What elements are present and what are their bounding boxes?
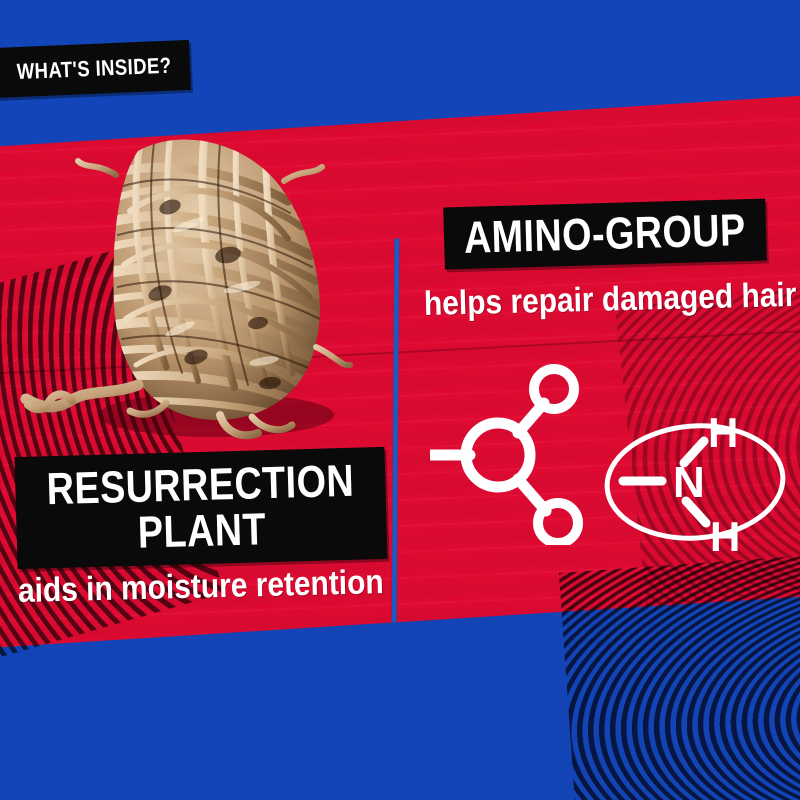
- resurrection-plant-title-line2: PLANT: [137, 506, 266, 555]
- hydrogen-label-top: H: [708, 409, 738, 456]
- whats-inside-label: WHAT'S INSIDE?: [16, 54, 171, 83]
- amino-group-title: AMINO-GROUP: [464, 207, 747, 261]
- ingredient-poster: WHAT'S INSIDE? AMINO-GROUP helps repair …: [0, 0, 800, 800]
- amino-nh2-icon: N H H: [600, 405, 790, 560]
- whats-inside-banner: WHAT'S INSIDE?: [0, 40, 191, 98]
- molecule-icon: [430, 345, 590, 545]
- hydrogen-label-bottom: H: [710, 513, 740, 560]
- resurrection-plant-banner: RESURRECTION PLANT: [15, 447, 388, 569]
- amino-group-banner: AMINO-GROUP: [443, 199, 767, 270]
- nitrogen-label: N: [673, 458, 705, 507]
